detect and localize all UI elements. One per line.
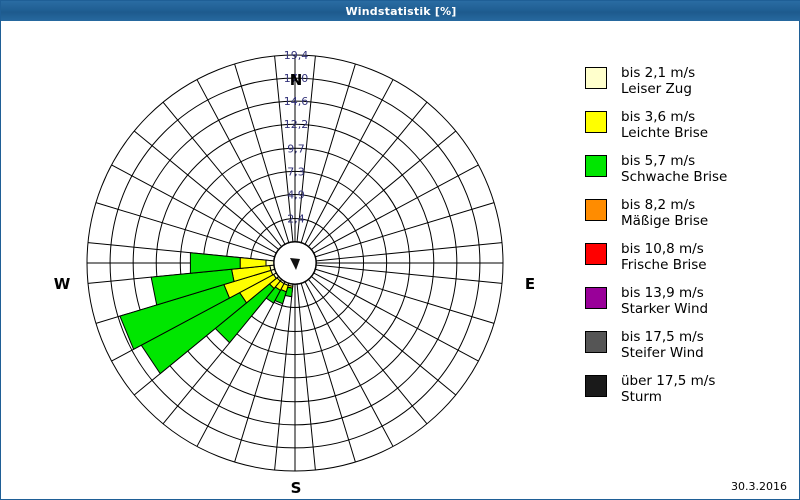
legend-label: bis 17,5 m/sSteifer Wind xyxy=(621,329,704,361)
legend-speed-range: über 17,5 m/s xyxy=(621,373,715,389)
legend-beaufort-name: Leiser Zug xyxy=(621,81,695,97)
legend-speed-range: bis 10,8 m/s xyxy=(621,241,707,257)
grid-spoke-13 xyxy=(305,282,393,447)
legend-label: bis 5,7 m/sSchwache Brise xyxy=(621,153,727,185)
radial-tick-label-9,7: 9,7 xyxy=(287,142,305,155)
legend-label: bis 3,6 m/sLeichte Brise xyxy=(621,109,708,141)
legend-label: bis 10,8 m/sFrische Brise xyxy=(621,241,707,273)
grid-spoke-10 xyxy=(314,273,479,361)
grid-spoke-14 xyxy=(301,284,355,463)
compass-label-north: N xyxy=(286,71,306,89)
radial-tick-label-19,4: 19,4 xyxy=(284,49,309,62)
legend-speed-range: bis 2,1 m/s xyxy=(621,65,695,81)
legend-label: bis 8,2 m/sMäßige Brise xyxy=(621,197,708,229)
windstatistik-window: Windstatistik [%] 2,44,97,39,712,214,617… xyxy=(0,0,800,500)
legend-beaufort-name: Sturm xyxy=(621,389,715,405)
legend-speed-range: bis 3,6 m/s xyxy=(621,109,708,125)
legend-swatch-icon xyxy=(585,155,607,177)
legend-beaufort-name: Steifer Wind xyxy=(621,345,704,361)
legend-swatch-icon xyxy=(585,331,607,353)
grid-spoke-11 xyxy=(312,277,456,395)
legend-label: über 17,5 m/sSturm xyxy=(621,373,715,405)
radial-tick-label-12,2: 12,2 xyxy=(284,118,309,131)
legend-item-4[interactable]: bis 8,2 m/sMäßige Brise xyxy=(585,197,708,229)
grid-spoke-26 xyxy=(112,165,277,253)
grid-spoke-29 xyxy=(197,80,285,245)
grid-spoke-27 xyxy=(134,131,278,249)
grid-spoke-25 xyxy=(96,203,275,257)
legend-speed-range: bis 5,7 m/s xyxy=(621,153,727,169)
radial-tick-label-4,9: 4,9 xyxy=(287,188,305,201)
grid-spoke-30 xyxy=(235,64,289,243)
legend-speed-range: bis 13,9 m/s xyxy=(621,285,708,301)
compass-label-west: W xyxy=(52,275,72,293)
legend-beaufort-name: Mäßige Brise xyxy=(621,213,708,229)
grid-spoke-3 xyxy=(309,102,427,246)
grid-spoke-5 xyxy=(314,165,479,253)
radial-tick-label-14,6: 14,6 xyxy=(284,95,309,108)
legend-speed-range: bis 17,5 m/s xyxy=(621,329,704,345)
legend-swatch-icon xyxy=(585,375,607,397)
grid-spoke-4 xyxy=(312,131,456,249)
legend-swatch-icon xyxy=(585,243,607,265)
compass-label-east: E xyxy=(520,275,540,293)
legend-speed-range: bis 8,2 m/s xyxy=(621,197,708,213)
legend-label: bis 2,1 m/sLeiser Zug xyxy=(621,65,695,97)
chart-stage: 2,44,97,39,712,214,617,019,4 N E S W bis… xyxy=(2,21,799,499)
legend-item-1[interactable]: bis 2,1 m/sLeiser Zug xyxy=(585,65,695,97)
date-stamp: 30.3.2016 xyxy=(731,480,787,493)
grid-spoke-12 xyxy=(309,280,427,424)
legend-item-8[interactable]: über 17,5 m/sSturm xyxy=(585,373,715,405)
legend-item-5[interactable]: bis 10,8 m/sFrische Brise xyxy=(585,241,707,273)
grid-spoke-6 xyxy=(316,203,495,257)
grid-spoke-9 xyxy=(316,269,495,323)
legend-swatch-icon xyxy=(585,67,607,89)
radial-tick-label-2,4: 2,4 xyxy=(287,213,305,226)
grid-spoke-28 xyxy=(163,102,281,246)
window-title-bar: Windstatistik [%] xyxy=(1,1,800,21)
legend-swatch-icon xyxy=(585,199,607,221)
legend-beaufort-name: Starker Wind xyxy=(621,301,708,317)
grid-spoke-1 xyxy=(301,64,355,243)
wind-rose-svg: 2,44,97,39,712,214,617,019,4 xyxy=(2,21,585,499)
legend-item-2[interactable]: bis 3,6 m/sLeichte Brise xyxy=(585,109,708,141)
window-title: Windstatistik [%] xyxy=(345,5,456,18)
legend-item-7[interactable]: bis 17,5 m/sSteifer Wind xyxy=(585,329,704,361)
radial-tick-label-7,3: 7,3 xyxy=(287,165,305,178)
legend-swatch-icon xyxy=(585,287,607,309)
compass-label-south: S xyxy=(286,479,306,497)
legend-beaufort-name: Leichte Brise xyxy=(621,125,708,141)
legend-item-3[interactable]: bis 5,7 m/sSchwache Brise xyxy=(585,153,727,185)
legend: bis 2,1 m/sLeiser Zugbis 3,6 m/sLeichte … xyxy=(585,41,800,441)
legend-label: bis 13,9 m/sStarker Wind xyxy=(621,285,708,317)
calm-center-hole xyxy=(274,242,316,284)
legend-item-6[interactable]: bis 13,9 m/sStarker Wind xyxy=(585,285,708,317)
petal-W-band-1[interactable] xyxy=(266,260,274,266)
wind-rose-chart: 2,44,97,39,712,214,617,019,4 xyxy=(2,21,585,499)
legend-beaufort-name: Schwache Brise xyxy=(621,169,727,185)
grid-spoke-2 xyxy=(305,80,393,245)
legend-swatch-icon xyxy=(585,111,607,133)
legend-beaufort-name: Frische Brise xyxy=(621,257,707,273)
